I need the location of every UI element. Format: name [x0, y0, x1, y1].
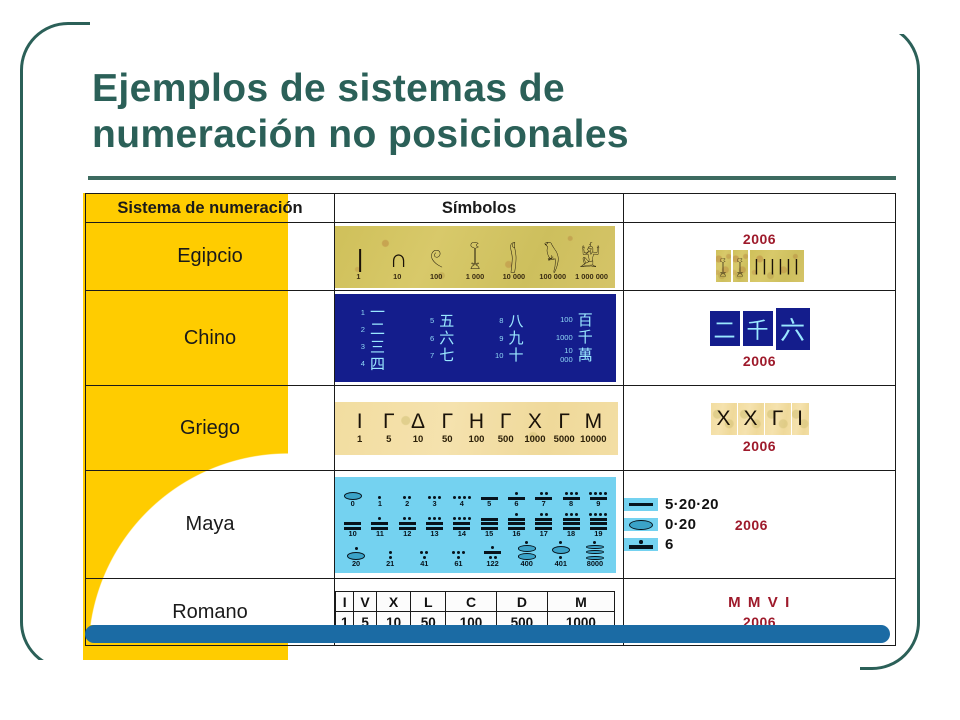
chinese-character: 八 [509, 313, 524, 329]
maya-example-line: 5·20·20 [624, 496, 719, 513]
chinese-character: 四 [370, 356, 385, 372]
maya-dot [570, 492, 573, 495]
header-system: Sistema de numeración [86, 194, 335, 223]
egyptian-example-glyphs: 𓆼 𓆼 | | | | | | [716, 250, 804, 282]
table-row: Maya 0 1 2 3 4 5 6 7 8 9 10 11 [86, 471, 896, 579]
title-line-1: Ejemplos de sistemas de [92, 66, 892, 112]
maya-dot [389, 551, 392, 554]
maya-glyph [589, 511, 607, 530]
maya-dot [604, 513, 607, 516]
maya-cell: 11 [366, 511, 393, 539]
maya-glyph [420, 541, 428, 560]
chinese-example-tile: 千 [743, 311, 773, 346]
egyptian-unit-glyph: | [753, 256, 761, 276]
maya-bar [426, 522, 443, 525]
page-title: Ejemplos de sistemas de numeración no po… [92, 66, 892, 158]
maya-glyph [518, 541, 536, 560]
maya-dot [355, 547, 358, 550]
table-row: Egipcio | ∩ 𓏲 𓆼 𓂭 𓆐 𓁨 1 10 100 1 000 [86, 223, 896, 291]
maya-dot [545, 492, 548, 495]
egyptian-unit-glyph: | [793, 256, 801, 276]
maya-cell: 10 [339, 511, 366, 539]
roman-letter: C [446, 592, 497, 612]
maya-dots [565, 491, 578, 495]
title-underline [88, 176, 896, 180]
maya-glyph-shell [344, 481, 362, 500]
maya-dot [599, 513, 602, 516]
maya-glyph [453, 481, 471, 500]
maya-dot [639, 540, 643, 544]
maya-glyph [508, 511, 525, 530]
maya-dots [452, 550, 465, 554]
maya-dot [559, 541, 562, 544]
chinese-character: 二 [370, 321, 385, 337]
maya-cell: 12 [394, 511, 421, 539]
maya-dots [420, 550, 428, 554]
maya-bar [508, 518, 525, 521]
egyptian-value: 1 [339, 272, 378, 281]
maya-dots [565, 512, 578, 516]
greek-value-row: 1 5 10 50 100 500 1000 5000 10000 [345, 434, 608, 445]
chinese-character: 十 [509, 347, 524, 363]
table-row: Griego I Γ Δ Γ Η Γ Χ Γ Μ 1 5 10 [86, 386, 896, 471]
maya-value: 21 [386, 560, 394, 569]
egyptian-value: 1 000 [456, 272, 495, 281]
maya-dot [599, 492, 602, 495]
chinese-column: 100百 1000千 10 000萬 [545, 312, 614, 364]
maya-dot [428, 517, 431, 520]
maya-dot [433, 517, 436, 520]
maya-value: 61 [454, 560, 462, 569]
table-header-row: Sistema de numeración Símbolos [86, 194, 896, 223]
maya-value: 41 [420, 560, 428, 569]
maya-glyph [399, 511, 416, 530]
maya-cell: 18 [557, 511, 584, 539]
chinese-entry: 5五 [406, 313, 475, 329]
chinese-entry: 4四 [337, 356, 406, 372]
maya-dots [355, 546, 358, 550]
maya-cell: 15 [475, 511, 502, 539]
chinese-character: 百 [578, 312, 593, 328]
maya-cell: 9 [585, 481, 612, 509]
chinese-value: 2 [343, 325, 365, 334]
maya-value: 4 [460, 500, 464, 509]
maya-cell: 61 [441, 541, 475, 569]
greek-value: 1000 [520, 434, 549, 445]
maya-glyph [589, 481, 607, 500]
maya-dot [425, 551, 428, 554]
chinese-column: 8八 9九 10十 [476, 313, 545, 364]
maya-dot [545, 513, 548, 516]
maya-bar [535, 522, 552, 525]
maya-bar [344, 522, 361, 525]
maya-dot [593, 541, 596, 544]
egyptian-value: 100 000 [533, 272, 572, 281]
egyptian-value: 10 [378, 272, 417, 281]
chinese-entry: 1000千 [545, 329, 614, 345]
greek-glyph: Γ [491, 411, 520, 432]
maya-value: 15 [485, 530, 493, 539]
egyptian-unit-glyph: | [785, 256, 793, 276]
maya-dots [515, 512, 518, 516]
system-name-egipcio: Egipcio [86, 223, 335, 291]
greek-value: 10000 [579, 434, 608, 445]
maya-dots [491, 546, 494, 550]
maya-bar [484, 551, 501, 554]
example-label: 2006 [743, 231, 776, 247]
maya-example: 5·20·20 0·20 6 2006 [624, 496, 895, 553]
egyptian-value: 100 [417, 272, 456, 281]
maya-glyph [563, 481, 580, 500]
maya-example-line: 6 [624, 536, 719, 553]
maya-bar [563, 522, 580, 525]
maya-glyph [484, 541, 501, 560]
maya-example-glyph [624, 498, 658, 511]
maya-glyph [481, 481, 498, 500]
maya-value: 401 [555, 560, 567, 569]
chinese-entry: 1一 [337, 304, 406, 320]
maya-bar [508, 522, 525, 525]
egyptian-unit-glyph: | [761, 256, 769, 276]
maya-cell: 21 [373, 541, 407, 569]
greek-example-tile: Χ [711, 403, 737, 435]
greek-glyph: Γ [374, 411, 403, 432]
maya-value: 2 [405, 500, 409, 509]
example-maya: 5·20·20 0·20 6 2006 [624, 471, 896, 579]
egyptian-unit-glyphs: | | | | | | [750, 250, 804, 282]
roman-letter: L [411, 592, 446, 612]
egyptian-unit-glyph: | [769, 256, 777, 276]
chinese-value: 100 [551, 315, 573, 324]
maya-bar [371, 522, 388, 525]
maya-bar [590, 518, 607, 521]
maya-dot [540, 513, 543, 516]
example-chino: 二 千 六 2006 [624, 291, 896, 386]
egyptian-glyph: 𓂭 [494, 247, 532, 272]
maya-bar [481, 518, 498, 521]
egyptian-glyph-row: | ∩ 𓏲 𓆼 𓂭 𓆐 𓁨 [335, 232, 615, 272]
system-name-maya: Maya [86, 471, 335, 579]
chinese-value: 5 [412, 316, 434, 325]
maya-value: 6 [514, 500, 518, 509]
chinese-example-tile: 二 [710, 311, 740, 346]
greek-glyph: Χ [520, 411, 549, 432]
maya-value: 8000 [587, 560, 603, 569]
maya-glyph [535, 481, 552, 500]
maya-dots [515, 491, 518, 495]
maya-dot [515, 492, 518, 495]
maya-value: 400 [521, 560, 533, 569]
greek-example-tile: Γ [765, 403, 791, 435]
greek-glyph: Δ [403, 411, 432, 432]
chinese-character: 九 [509, 330, 524, 346]
example-label: 2006 [743, 353, 776, 369]
maya-cell: 13 [421, 511, 448, 539]
numeration-systems-table: Sistema de numeración Símbolos Egipcio |… [85, 193, 896, 646]
maya-dot [468, 496, 471, 499]
egyptian-unit-glyph: | [777, 256, 785, 276]
maya-glyph [535, 511, 552, 530]
roman-letter: D [496, 592, 547, 612]
chinese-value: 4 [343, 359, 365, 368]
maya-dot [408, 517, 411, 520]
chinese-character: 千 [578, 329, 593, 345]
maya-bar [629, 545, 653, 549]
example-wrap: 二 千 六 2006 [624, 308, 895, 369]
maya-cell: 8000 [578, 541, 612, 569]
maya-value: 9 [596, 500, 600, 509]
greek-value: 1 [345, 434, 374, 445]
title-line-2: numeración no posicionales [92, 112, 892, 158]
greek-glyph: Γ [550, 411, 579, 432]
shell-icon [629, 520, 653, 530]
maya-cell: 0 [339, 481, 366, 509]
example-griego: Χ Χ Γ I 2006 [624, 386, 896, 471]
maya-cell: 1 [366, 481, 393, 509]
maya-value: 13 [430, 530, 438, 539]
maya-dot [420, 551, 423, 554]
maya-dot [438, 496, 441, 499]
egyptian-glyph: ∩ [379, 247, 417, 272]
maya-dot [570, 513, 573, 516]
shell-icon [586, 550, 604, 554]
shell-icon [552, 546, 570, 554]
symbols-egipcio: | ∩ 𓏲 𓆼 𓂭 𓆐 𓁨 1 10 100 1 000 10 000 100 … [335, 223, 624, 291]
maya-dot [575, 513, 578, 516]
chinese-entry: 2二 [337, 321, 406, 337]
example-wrap: 2006 𓆼 𓆼 | | | | | | [624, 231, 895, 282]
maya-dot [403, 517, 406, 520]
maya-cell: 16 [503, 511, 530, 539]
maya-dots [525, 541, 528, 544]
maya-glyph [378, 481, 381, 500]
symbols-chino: 1一 2二 3三 4四 5五 6六 7七 8八 9九 10十 100百 [335, 291, 624, 386]
greek-glyph: I [345, 411, 374, 432]
maya-glyph [426, 511, 443, 530]
maya-example-text: 5·20·20 [665, 496, 719, 513]
maya-dots [403, 517, 411, 521]
maya-glyph [452, 541, 465, 560]
egyptian-glyph: 𓆼 [456, 247, 494, 272]
table-row: Chino 1一 2二 3三 4四 5五 6六 7七 8八 9九 10十 [86, 291, 896, 386]
maya-value: 18 [567, 530, 575, 539]
maya-glyph [453, 511, 471, 530]
maya-dot [525, 541, 528, 544]
maya-glyph [563, 511, 580, 530]
chinese-value: 1 [343, 308, 365, 317]
chinese-entry: 8八 [476, 313, 545, 329]
shell-icon [586, 545, 604, 549]
chinese-character: 一 [370, 304, 385, 320]
chinese-entry: 100百 [545, 312, 614, 328]
maya-value: 19 [594, 530, 602, 539]
maya-dot [565, 492, 568, 495]
roman-letter: I [336, 592, 354, 612]
maya-row-0-9: 0 1 2 3 4 5 6 7 8 9 [339, 481, 612, 509]
maya-cell: 41 [407, 541, 441, 569]
maya-glyph [428, 481, 441, 500]
maya-cell: 4 [448, 481, 475, 509]
system-name-griego: Griego [86, 386, 335, 471]
maya-dot [604, 492, 607, 495]
maya-bar [481, 522, 498, 525]
symbols-maya: 0 1 2 3 4 5 6 7 8 9 10 11 12 13 14 [335, 471, 624, 579]
egyptian-glyph: 𓁨 [571, 247, 609, 272]
symbols-griego: I Γ Δ Γ Η Γ Χ Γ Μ 1 5 10 50 100 500 [335, 386, 624, 471]
maya-dots [589, 512, 607, 516]
chinese-entry: 6六 [406, 330, 475, 346]
roman-letter: M [547, 592, 614, 612]
maya-dot [453, 517, 456, 520]
maya-dot [565, 513, 568, 516]
maya-example-text: 6 [665, 536, 674, 553]
egyptian-thousand-glyph: 𓆼 [716, 250, 731, 282]
greek-value: 5000 [550, 434, 579, 445]
greek-value: 500 [491, 434, 520, 445]
maya-dot [575, 492, 578, 495]
example-label: 2006 [735, 517, 768, 533]
egyptian-glyph: 𓏲 [418, 247, 456, 272]
example-label: 2006 [743, 438, 776, 454]
maya-cell: 7 [530, 481, 557, 509]
decorative-blue-bar [85, 625, 890, 643]
maya-value: 12 [403, 530, 411, 539]
maya-dot [589, 492, 592, 495]
roman-example-numeral: M M V I [728, 594, 791, 611]
maya-value: 5 [487, 500, 491, 509]
maya-bar [590, 522, 607, 525]
maya-cell: 122 [476, 541, 510, 569]
maya-cell: 17 [530, 511, 557, 539]
greek-glyph-row: I Γ Δ Γ Η Γ Χ Γ Μ [345, 411, 608, 432]
maya-example-text: 0·20 [665, 516, 696, 533]
maya-value: 8 [569, 500, 573, 509]
example-egipcio: 2006 𓆼 𓆼 | | | | | | [624, 223, 896, 291]
roman-letter: X [376, 592, 411, 612]
chinese-value: 6 [412, 334, 434, 343]
maya-dots [559, 541, 562, 545]
maya-dot [468, 517, 471, 520]
maya-bar [629, 503, 653, 507]
frame-mask-bottom [30, 660, 860, 690]
egyptian-value: 1 000 000 [572, 272, 611, 281]
maya-bar [563, 518, 580, 521]
egyptian-glyph: | [341, 247, 379, 272]
maya-glyph [403, 481, 411, 500]
maya-value: 7 [542, 500, 546, 509]
chinese-example-tile: 六 [776, 308, 810, 350]
maya-cell: 5 [475, 481, 502, 509]
maya-cell: 19 [585, 511, 612, 539]
maya-dot [452, 551, 455, 554]
maya-value: 14 [458, 530, 466, 539]
maya-bar [399, 522, 416, 525]
maya-dots [428, 517, 441, 521]
maya-dots [593, 541, 596, 544]
maya-dot [438, 517, 441, 520]
chinese-character: 三 [370, 339, 385, 355]
maya-cell: 2 [394, 481, 421, 509]
maya-glyph [481, 511, 498, 530]
greek-symbol-strip: I Γ Δ Γ Η Γ Χ Γ Μ 1 5 10 50 100 500 [335, 402, 618, 455]
maya-cell: 8 [557, 481, 584, 509]
chinese-column: 5五 6六 7七 [406, 313, 475, 364]
maya-glyph [344, 511, 361, 530]
egyptian-thousand-glyph: 𓆼 [733, 250, 748, 282]
greek-example-tile: Χ [738, 403, 764, 435]
shell-icon [518, 545, 536, 552]
greek-value: 10 [403, 434, 432, 445]
maya-dot [378, 517, 381, 520]
greek-glyph: Η [462, 411, 491, 432]
maya-dots [540, 512, 548, 516]
maya-dot [491, 546, 494, 549]
chinese-entry: 10 000萬 [545, 346, 614, 364]
maya-dots [378, 517, 381, 521]
maya-dot [463, 517, 466, 520]
maya-value: 10 [349, 530, 357, 539]
maya-value: 122 [486, 560, 498, 569]
maya-dot [428, 496, 431, 499]
chinese-entry: 7七 [406, 347, 475, 363]
example-wrap: Χ Χ Γ I 2006 [624, 403, 895, 454]
chinese-character: 五 [439, 313, 454, 329]
chinese-character: 七 [439, 347, 454, 363]
chinese-value: 8 [482, 316, 504, 325]
maya-value: 11 [376, 530, 384, 539]
chinese-entry: 3三 [337, 339, 406, 355]
maya-glyph [508, 481, 525, 500]
maya-bar [535, 518, 552, 521]
maya-cell: 20 [339, 541, 373, 569]
maya-dots [389, 550, 392, 554]
egyptian-glyph: 𓆐 [532, 247, 570, 272]
maya-dots [453, 517, 471, 521]
chinese-value: 9 [482, 334, 504, 343]
system-name-chino: Chino [86, 291, 335, 386]
maya-row-higher: 20 21 41 61 122 400 401 8000 [339, 541, 612, 569]
maya-cell: 14 [448, 511, 475, 539]
chinese-symbol-strip: 1一 2二 3三 4四 5五 6六 7七 8八 9九 10十 100百 [335, 294, 616, 382]
maya-example-line: 0·20 [624, 516, 719, 533]
maya-cell: 6 [503, 481, 530, 509]
maya-dot [462, 551, 465, 554]
maya-dot [594, 492, 597, 495]
maya-row-10-19: 10 11 12 13 14 15 16 17 18 19 [339, 511, 612, 539]
maya-value: 1 [378, 500, 382, 509]
maya-dot [515, 513, 518, 516]
maya-dots [540, 491, 548, 495]
greek-glyph: Γ [433, 411, 462, 432]
header-symbols: Símbolos [335, 194, 624, 223]
chinese-character: 萬 [578, 347, 593, 363]
maya-dot [594, 513, 597, 516]
greek-example-tiles: Χ Χ Γ I [711, 403, 809, 435]
chinese-example-tiles: 二 千 六 [710, 308, 810, 350]
maya-value: 17 [540, 530, 548, 539]
greek-glyph: Μ [579, 411, 608, 432]
maya-example-rows: 5·20·20 0·20 6 [624, 496, 719, 553]
maya-dot [589, 513, 592, 516]
maya-dot [457, 551, 460, 554]
roman-letter: V [354, 592, 376, 612]
maya-dot [540, 492, 543, 495]
maya-glyph [586, 541, 604, 560]
greek-value: 50 [433, 434, 462, 445]
maya-cell: 3 [421, 481, 448, 509]
chinese-value: 7 [412, 351, 434, 360]
maya-cell: 401 [544, 541, 578, 569]
